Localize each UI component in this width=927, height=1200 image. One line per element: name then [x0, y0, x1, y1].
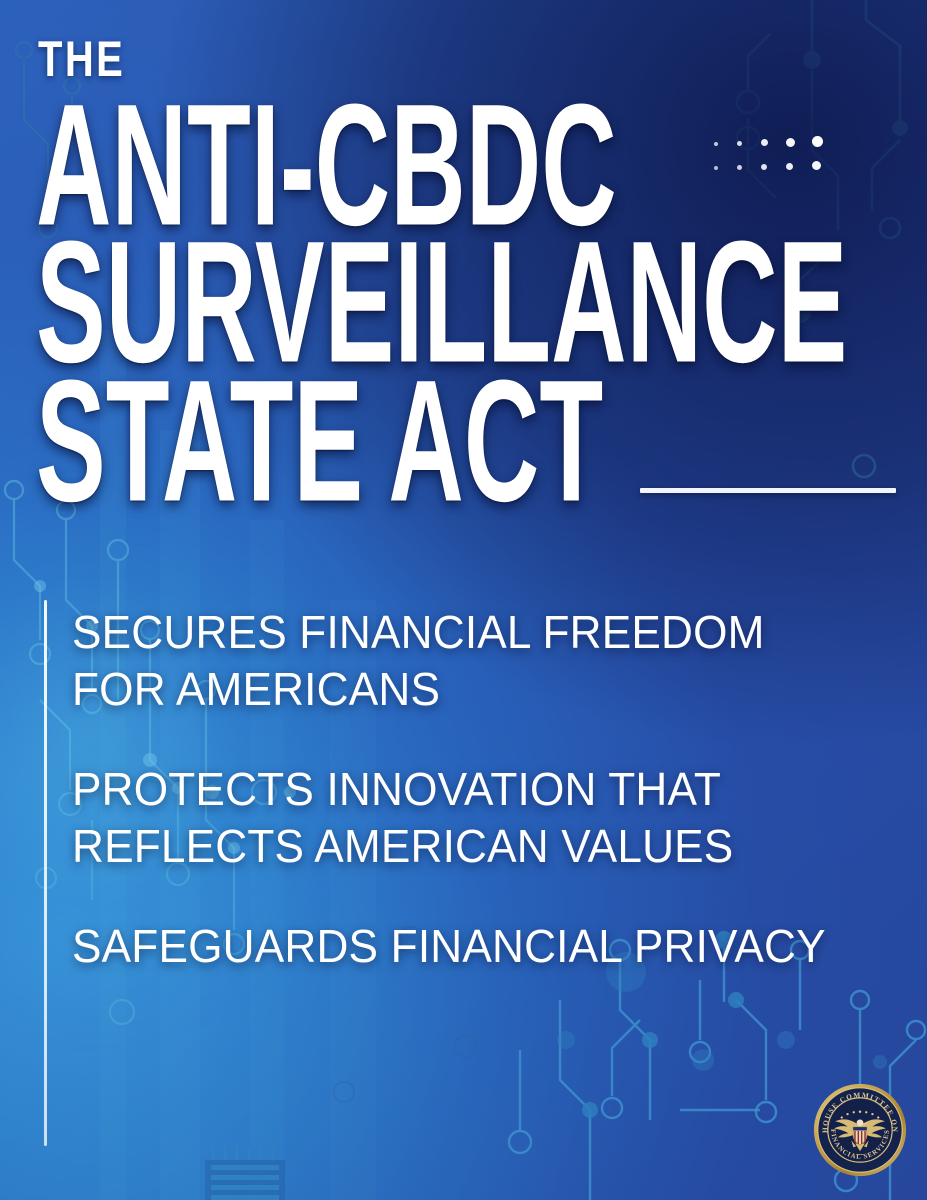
list-item: SECURES FINANCIAL FREEDOM FOR AMERICANS — [72, 604, 850, 717]
list-item: PROTECTS INNOVATION THAT REFLECTS AMERIC… — [72, 761, 850, 874]
statement-list: SECURES FINANCIAL FREEDOM FOR AMERICANS … — [72, 604, 882, 975]
title-underline-rule — [640, 488, 896, 493]
poster-canvas: THE ANTI-CBDC SURVEILLANCE STATE ACT SEC… — [0, 0, 927, 1200]
vertical-accent-line — [44, 600, 47, 1146]
dot-grid-decoration — [712, 136, 828, 178]
list-item: SAFEGUARDS FINANCIAL PRIVACY — [72, 918, 850, 975]
house-committee-on-financial-services-seal: HOUSE COMMITTEE ON FINANCIAL SERVICES — [812, 1082, 908, 1178]
headline-line-3: STATE ACT — [36, 372, 603, 511]
